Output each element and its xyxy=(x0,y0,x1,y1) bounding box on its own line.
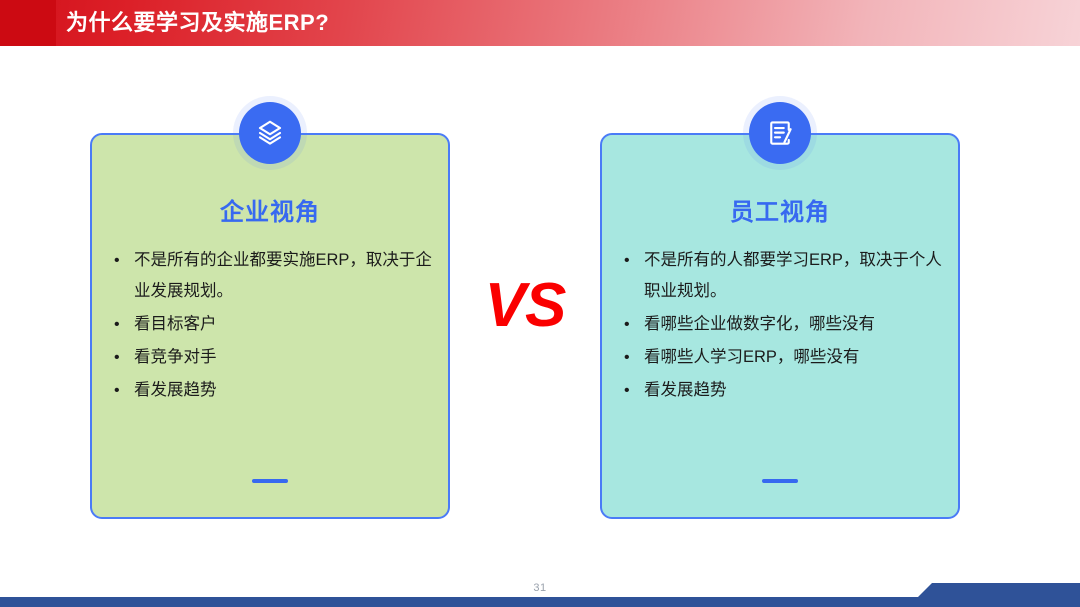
list-item-label: 看竞争对手 xyxy=(134,342,432,373)
list-item: • 看发展趋势 xyxy=(624,375,942,406)
page-title: 为什么要学习及实施ERP? xyxy=(66,0,329,46)
bullet-marker-icon: • xyxy=(624,342,644,373)
list-item-label: 看发展趋势 xyxy=(644,375,942,406)
document-edit-icon xyxy=(749,102,811,164)
slide-title-bar: 为什么要学习及实施ERP? xyxy=(0,0,1080,46)
title-bar-accent-block xyxy=(0,0,56,46)
slide-canvas: 为什么要学习及实施ERP? 企业视角 • 不是所有的企业都要实施ERP，取决于企… xyxy=(0,0,1080,607)
list-item: • 看竞争对手 xyxy=(114,342,432,373)
list-item-label: 看目标客户 xyxy=(134,309,432,340)
card-enterprise[interactable]: 企业视角 • 不是所有的企业都要实施ERP，取决于企业发展规划。 • 看目标客户… xyxy=(90,133,450,519)
list-item-label: 看发展趋势 xyxy=(134,375,432,406)
card-employee[interactable]: 员工视角 • 不是所有的人都要学习ERP，取决于个人职业规划。 • 看哪些企业做… xyxy=(600,133,960,519)
card-employee-divider xyxy=(762,479,798,483)
list-item: • 看哪些企业做数字化，哪些没有 xyxy=(624,309,942,340)
list-item: • 不是所有的人都要学习ERP，取决于个人职业规划。 xyxy=(624,245,942,307)
bullet-marker-icon: • xyxy=(624,245,644,276)
card-enterprise-divider xyxy=(252,479,288,483)
list-item: • 看发展趋势 xyxy=(114,375,432,406)
card-enterprise-title: 企业视角 xyxy=(92,192,448,227)
list-item-label: 不是所有的企业都要实施ERP，取决于企业发展规划。 xyxy=(134,245,432,307)
list-item: • 看目标客户 xyxy=(114,309,432,340)
bullet-marker-icon: • xyxy=(114,375,134,406)
bullet-marker-icon: • xyxy=(114,342,134,373)
list-item: • 看哪些人学习ERP，哪些没有 xyxy=(624,342,942,373)
list-item-label: 看哪些企业做数字化，哪些没有 xyxy=(644,309,942,340)
bullet-marker-icon: • xyxy=(114,245,134,276)
bullet-marker-icon: • xyxy=(624,375,644,406)
list-item: • 不是所有的企业都要实施ERP，取决于企业发展规划。 xyxy=(114,245,432,307)
list-item-label: 不是所有的人都要学习ERP，取决于个人职业规划。 xyxy=(644,245,942,307)
bullet-marker-icon: • xyxy=(624,309,644,340)
bullet-marker-icon: • xyxy=(114,309,134,340)
card-enterprise-bullet-list: • 不是所有的企业都要实施ERP，取决于企业发展规划。 • 看目标客户 • 看竞… xyxy=(114,245,432,408)
layers-icon xyxy=(239,102,301,164)
card-employee-title: 员工视角 xyxy=(602,192,958,227)
vs-label: VS xyxy=(470,275,580,337)
card-employee-bullet-list: • 不是所有的人都要学习ERP，取决于个人职业规划。 • 看哪些企业做数字化，哪… xyxy=(624,245,942,408)
page-number: 31 xyxy=(0,582,1080,594)
list-item-label: 看哪些人学习ERP，哪些没有 xyxy=(644,342,942,373)
